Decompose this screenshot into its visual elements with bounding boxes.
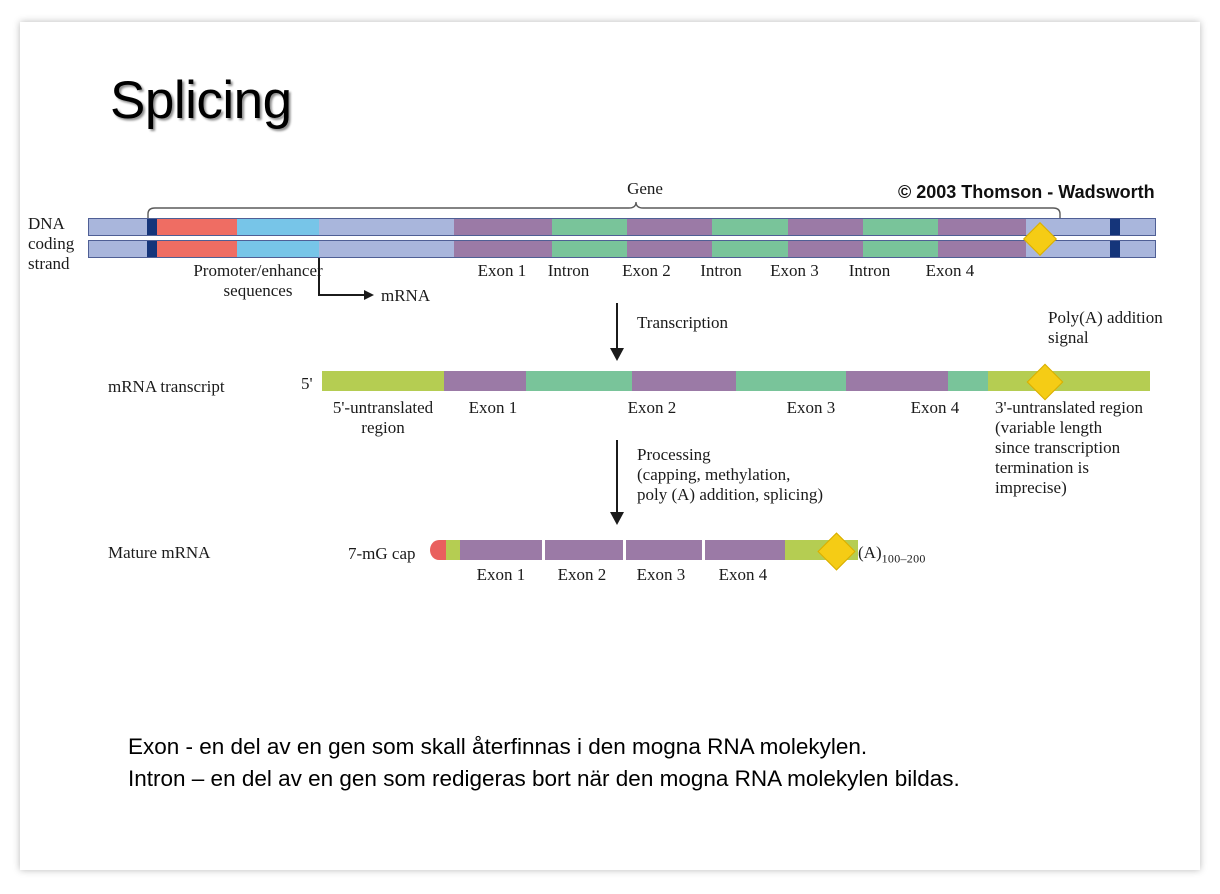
transcript-utr3-label-line1: 3'-untranslated region bbox=[995, 398, 1143, 418]
polya-signal-diamond-mature bbox=[817, 532, 855, 570]
segment-exon-1-b bbox=[454, 241, 552, 257]
promoter-enhancer-label-line2: sequences bbox=[128, 281, 388, 301]
mature-mrna-row-label: Mature mRNA bbox=[108, 543, 210, 563]
mature-label-exon-3: Exon 3 bbox=[623, 565, 699, 585]
polya-signal-label-line2: signal bbox=[1048, 328, 1163, 348]
dna-label-exon-4: Exon 4 bbox=[906, 261, 994, 281]
mrna-arrowhead bbox=[364, 290, 374, 300]
caption-line-intron: Intron – en del av en gen som redigeras … bbox=[128, 763, 960, 795]
transcription-arrowhead bbox=[610, 348, 624, 361]
segment-exon-1 bbox=[454, 219, 552, 235]
caption-line-exon: Exon - en del av en gen som skall återfi… bbox=[128, 731, 960, 763]
mrna-arrow-label: mRNA bbox=[381, 286, 430, 306]
segment-exon-2-b bbox=[627, 241, 712, 257]
processing-step-label: Processing (capping, methylation, poly (… bbox=[637, 445, 823, 505]
mrna-transcript-row-label: mRNA transcript bbox=[108, 377, 225, 397]
segment-promoter-b bbox=[157, 241, 237, 257]
mature-label-exon-4: Exon 4 bbox=[703, 565, 783, 585]
transcript-label-utr3: 3'-untranslated region (variable length … bbox=[995, 398, 1143, 498]
transcript-utr3-label-line2: (variable length bbox=[995, 418, 1143, 438]
dna-strand-label-line3: strand bbox=[28, 254, 74, 274]
transcription-arrow-shaft bbox=[616, 303, 618, 351]
segment-intron-3-b bbox=[863, 241, 938, 257]
caption-block: Exon - en del av en gen som skall återfi… bbox=[128, 731, 960, 795]
segment-tick-end-b bbox=[1110, 241, 1120, 257]
mature-label-exon-1: Exon 1 bbox=[460, 565, 542, 585]
segment-backbone-tail bbox=[1120, 219, 1156, 235]
five-prime-label: 5' bbox=[301, 374, 313, 394]
dna-strand-bottom bbox=[88, 240, 1156, 258]
dna-strand-label: DNA coding strand bbox=[28, 214, 74, 274]
polya-tail-subscript: 100–200 bbox=[882, 551, 926, 565]
mature-cap-green bbox=[446, 540, 460, 560]
mature-exon-2 bbox=[545, 540, 623, 560]
segment-exon-3-b bbox=[788, 241, 863, 257]
segment-tick-start-b bbox=[147, 241, 157, 257]
transcript-exon-1 bbox=[444, 371, 526, 391]
segment-intron-2-b bbox=[712, 241, 788, 257]
dna-strand-label-line1: DNA bbox=[28, 214, 74, 234]
transcription-step-label: Transcription bbox=[637, 313, 728, 333]
polya-tail-notation: (A)100–200 bbox=[858, 543, 926, 568]
seven-mg-cap-label: 7-mG cap bbox=[348, 544, 416, 564]
transcript-utr3-label-line3: since transcription bbox=[995, 438, 1143, 458]
transcript-utr5-label-line1: 5'-untranslated bbox=[318, 398, 448, 418]
segment-backbone-mid bbox=[319, 219, 454, 235]
gene-bracket-label: Gene bbox=[595, 179, 695, 199]
dna-label-exon-2: Exon 2 bbox=[604, 261, 689, 281]
segment-intron-3 bbox=[863, 219, 938, 235]
transcript-utr5-label-line2: region bbox=[318, 418, 448, 438]
segment-intron-1 bbox=[552, 219, 627, 235]
processing-arrowhead bbox=[610, 512, 624, 525]
transcript-exon-3 bbox=[846, 371, 948, 391]
polya-tail-text: (A) bbox=[858, 543, 882, 562]
polya-signal-label-line1: Poly(A) addition bbox=[1048, 308, 1163, 328]
transcript-utr3-label-line5: imprecise) bbox=[995, 478, 1143, 498]
mature-label-exon-2: Exon 2 bbox=[543, 565, 621, 585]
segment-promoter bbox=[157, 219, 237, 235]
dna-label-exon-3: Exon 3 bbox=[757, 261, 832, 281]
segment-backbone-left-b bbox=[89, 241, 147, 257]
segment-exon-3 bbox=[788, 219, 863, 235]
mature-exon-3 bbox=[626, 540, 702, 560]
processing-step-line1: Processing bbox=[637, 445, 823, 465]
segment-backbone-tail-b bbox=[1120, 241, 1156, 257]
mature-exon-1 bbox=[460, 540, 542, 560]
dna-label-intron-2: Intron bbox=[683, 261, 759, 281]
mature-exon-4 bbox=[705, 540, 785, 560]
mature-mrna-bar bbox=[446, 540, 858, 560]
transcript-exon-2 bbox=[632, 371, 736, 391]
segment-exon-4-b bbox=[938, 241, 1026, 257]
polya-addition-signal-label: Poly(A) addition signal bbox=[1048, 308, 1163, 348]
processing-step-line3: poly (A) addition, splicing) bbox=[637, 485, 823, 505]
dna-label-intron-3: Intron bbox=[832, 261, 907, 281]
transcript-label-exon-2: Exon 2 bbox=[600, 398, 704, 418]
dna-duplex bbox=[88, 218, 1156, 258]
segment-backbone-left bbox=[89, 219, 147, 235]
mrna-transcript-utr3-extension bbox=[988, 371, 1150, 391]
transcript-intron-1 bbox=[526, 371, 632, 391]
dna-label-intron-1: Intron bbox=[531, 261, 606, 281]
segment-backbone-mid-b bbox=[319, 241, 454, 257]
transcript-label-exon-3: Exon 3 bbox=[760, 398, 862, 418]
segment-tick-end bbox=[1110, 219, 1120, 235]
processing-step-line2: (capping, methylation, bbox=[637, 465, 823, 485]
transcript-label-exon-4: Exon 4 bbox=[890, 398, 980, 418]
transcript-label-utr5: 5'-untranslated region bbox=[318, 398, 448, 438]
segment-tick-start bbox=[147, 219, 157, 235]
page-title: Splicing bbox=[110, 70, 292, 131]
mrna-elbow-vertical bbox=[318, 258, 320, 295]
transcript-utr3-label-line4: termination is bbox=[995, 458, 1143, 478]
segment-enhancer-b bbox=[237, 241, 319, 257]
mrna-elbow-horizontal bbox=[318, 294, 366, 296]
dna-strand-label-line2: coding bbox=[28, 234, 74, 254]
polya-signal-diamond-transcript bbox=[1027, 364, 1064, 401]
segment-exon-4 bbox=[938, 219, 1026, 235]
promoter-enhancer-label-line1: Promoter/enhancer bbox=[128, 261, 388, 281]
transcript-label-exon-1: Exon 1 bbox=[452, 398, 534, 418]
dna-strand-top bbox=[88, 218, 1156, 236]
segment-enhancer bbox=[237, 219, 319, 235]
transcript-intron-2 bbox=[736, 371, 846, 391]
segment-intron-2 bbox=[712, 219, 788, 235]
segment-intron-1-b bbox=[552, 241, 627, 257]
slide-canvas: Splicing © 2003 Thomson - Wadsworth Gene… bbox=[0, 0, 1220, 894]
segment-exon-2 bbox=[627, 219, 712, 235]
transcript-utr5 bbox=[322, 371, 444, 391]
processing-arrow-shaft bbox=[616, 440, 618, 515]
